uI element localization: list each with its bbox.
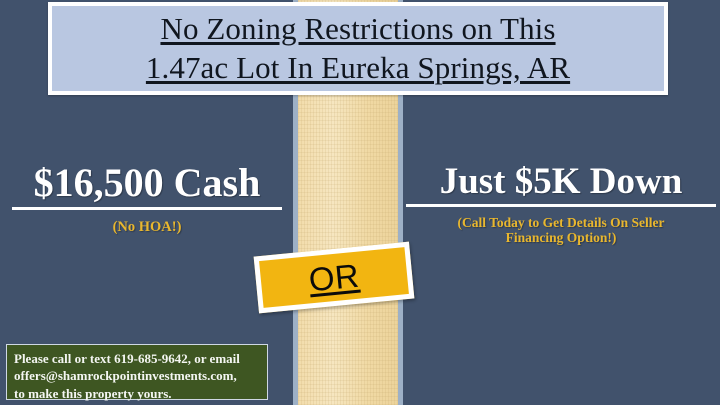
- contact-box: Please call or text 619-685-9642, or ema…: [6, 344, 268, 400]
- offer-left-underline: [12, 207, 282, 210]
- contact-line-1: Please call or text 619-685-9642, or ema…: [14, 350, 260, 367]
- offer-right-note: (Call Today to Get Details On Seller Fin…: [404, 215, 718, 246]
- contact-line-3: to make this property yours.: [14, 385, 260, 402]
- offer-left-note: (No HOA!): [2, 219, 292, 236]
- contact-line-2: offers@shamrockpointinvestments.com,: [14, 367, 260, 384]
- offer-right: Just $5K Down (Call Today to Get Details…: [404, 163, 718, 246]
- headline-line-1: No Zoning Restrictions on This: [160, 10, 555, 48]
- headline-banner: No Zoning Restrictions on This 1.47ac Lo…: [48, 2, 668, 95]
- headline-line-2: 1.47ac Lot In Eureka Springs, AR: [146, 49, 570, 87]
- property-flyer: No Zoning Restrictions on This 1.47ac Lo…: [0, 0, 720, 405]
- or-badge-label: OR: [307, 256, 361, 299]
- offer-left-price: $16,500 Cash: [2, 163, 292, 204]
- offer-right-note-line-2: Financing Option!): [404, 230, 718, 246]
- offer-right-price: Just $5K Down: [404, 163, 718, 201]
- offer-right-note-line-1: (Call Today to Get Details On Seller: [404, 215, 718, 231]
- offer-left: $16,500 Cash (No HOA!): [2, 163, 292, 236]
- offer-right-underline: [406, 204, 716, 207]
